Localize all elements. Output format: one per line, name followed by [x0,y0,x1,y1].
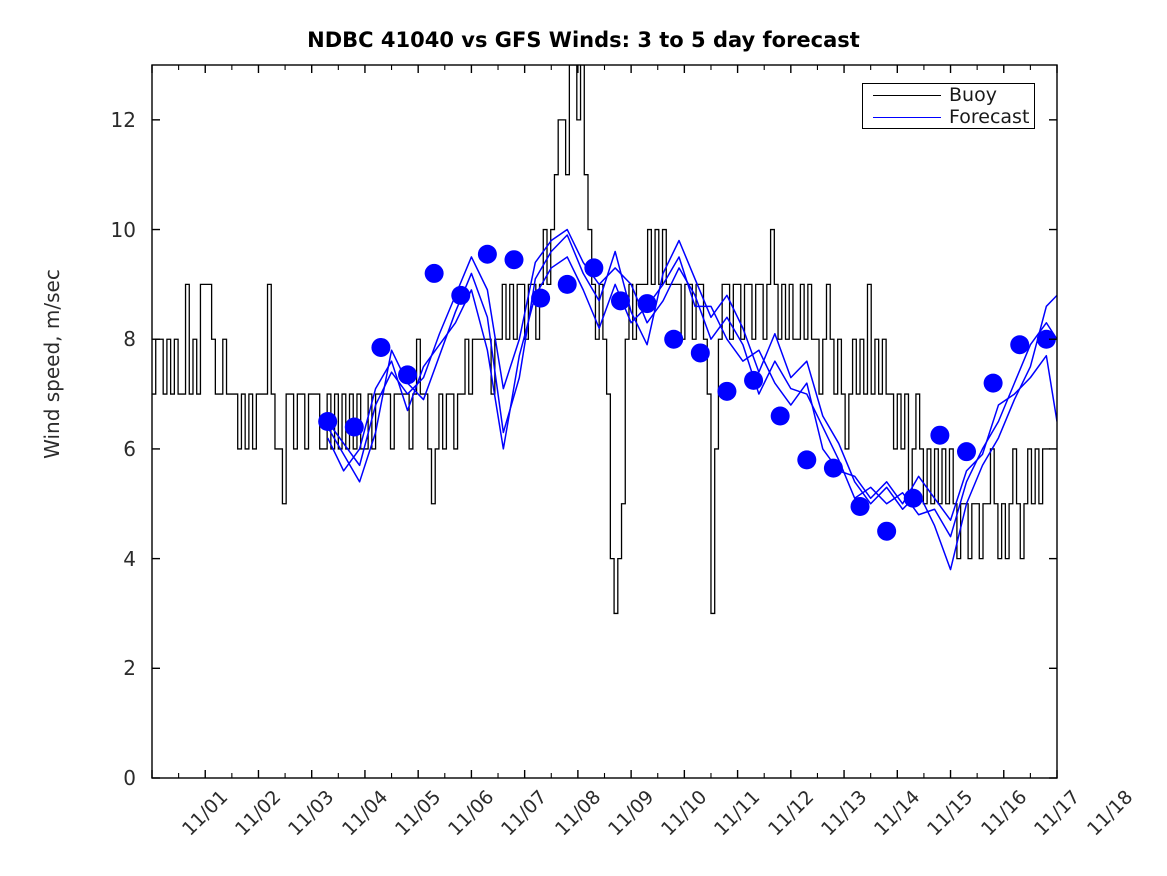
forecast-marker [611,291,630,310]
forecast-marker [877,522,896,541]
forecast-marker [558,275,577,294]
legend-entry-forecast: Forecast [863,106,1036,129]
forecast-marker [398,365,417,384]
forecast-marker [824,459,843,478]
forecast-marker [1010,335,1029,354]
figure-canvas: NDBC 41040 vs GFS Winds: 3 to 5 day fore… [0,0,1167,875]
forecast-marker [957,442,976,461]
forecast-marker [930,426,949,445]
forecast-marker [505,250,524,269]
plot-area [0,0,1167,875]
axes-frame [152,65,1057,778]
line-swatch-blue-icon [873,117,941,118]
legend-box: Buoy Forecast [862,83,1035,129]
forecast-marker [904,489,923,508]
forecast-marker [584,258,603,277]
forecast-marker [451,286,470,305]
forecast-marker [691,343,710,362]
legend-label-forecast: Forecast [949,106,1029,129]
line-swatch-black-icon [873,95,941,96]
forecast-marker [664,330,683,349]
forecast-series-line-3 [328,257,1057,520]
forecast-marker [425,264,444,283]
forecast-marker [345,417,364,436]
forecast-marker [744,371,763,390]
buoy-series-line [152,65,1050,613]
forecast-marker [984,374,1003,393]
forecast-marker [531,289,550,308]
forecast-marker [771,407,790,426]
legend-entry-buoy: Buoy [863,84,1036,107]
forecast-marker [318,412,337,431]
forecast-marker [797,450,816,469]
forecast-marker [478,245,497,264]
forecast-marker [851,497,870,516]
data-layer [152,65,1057,613]
forecast-marker [717,382,736,401]
legend-label-buoy: Buoy [949,84,997,107]
forecast-marker [638,294,657,313]
forecast-marker [371,338,390,357]
